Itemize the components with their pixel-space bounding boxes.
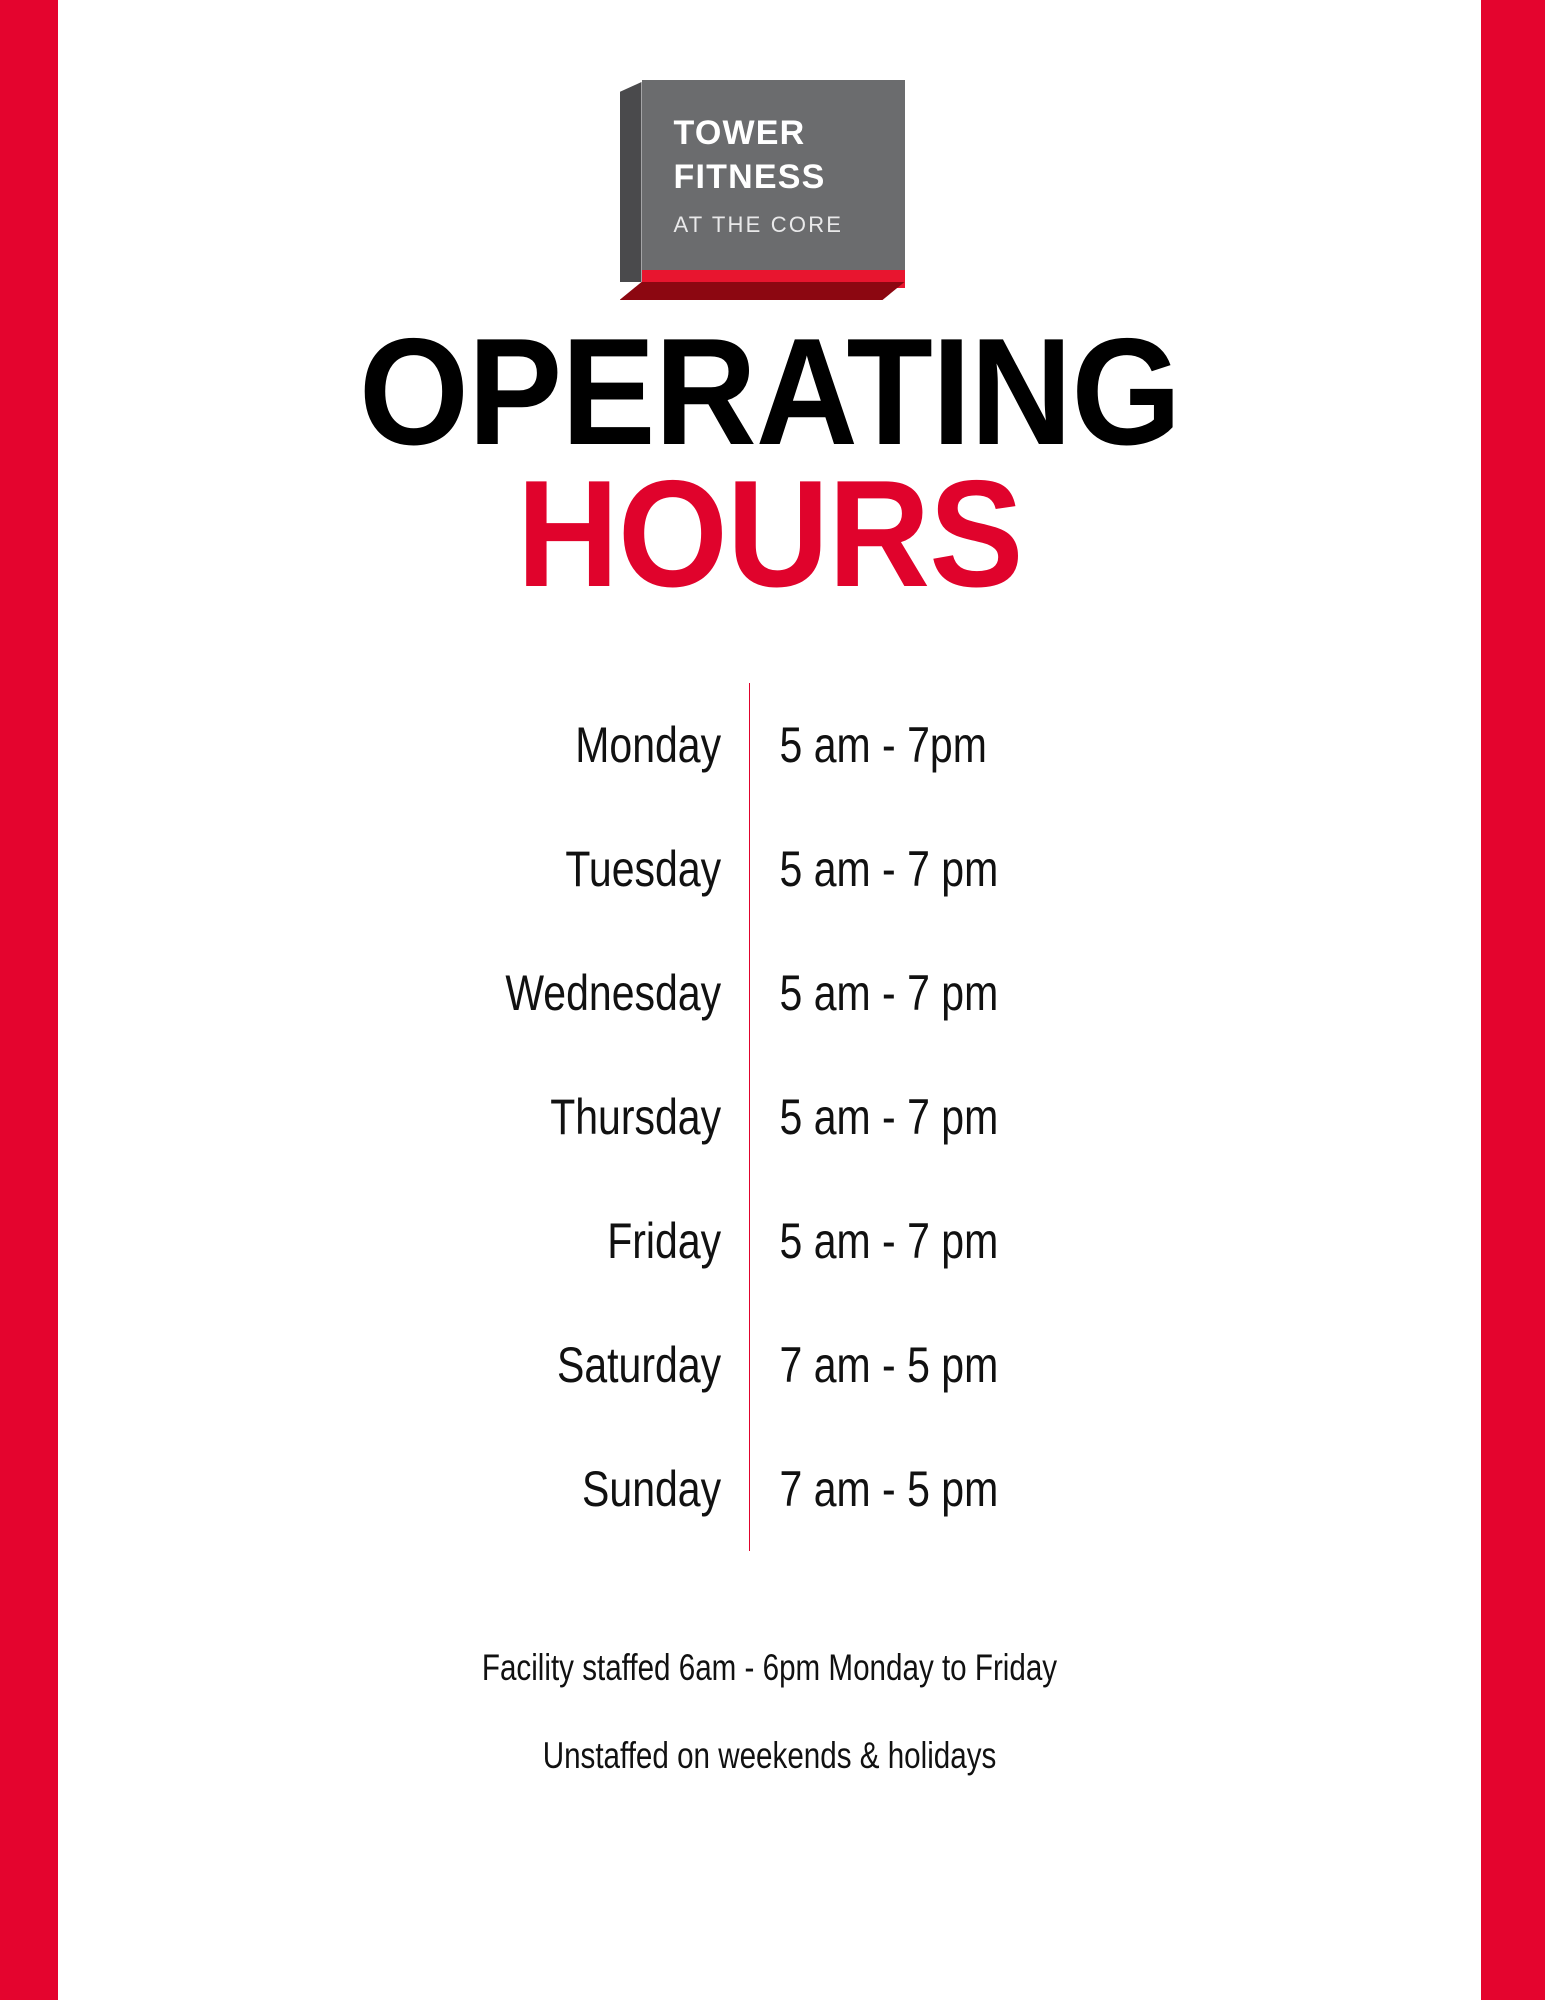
logo-tagline: AT THE CORE — [674, 212, 905, 238]
footer-notes: Facility staffed 6am - 6pm Monday to Fri… — [58, 1647, 1481, 1823]
hours-row-day: Wednesday — [511, 931, 749, 1055]
hours-row-day: Friday — [511, 1179, 749, 1303]
page-title-line2: HOURS — [359, 465, 1181, 605]
page-title-line1: OPERATING — [359, 323, 1181, 463]
hours-row-day: Monday — [511, 683, 749, 807]
logo-name-line1: TOWER — [674, 112, 905, 156]
footer-note: Facility staffed 6am - 6pm Monday to Fri… — [200, 1647, 1338, 1689]
hours-row-time: 7 am - 5 pm — [750, 1427, 1021, 1551]
footer-note: Unstaffed on weekends & holidays — [200, 1735, 1338, 1777]
hours-row-time: 5 am - 7pm — [750, 683, 1021, 807]
hours-row-time: 5 am - 7 pm — [750, 931, 1021, 1055]
logo-tower-side-edge — [620, 82, 642, 282]
page-title: OPERATING HOURS — [328, 323, 1211, 605]
hours-row-time: 5 am - 7 pm — [750, 1055, 1021, 1179]
logo-tower-face: TOWER FITNESS AT THE CORE — [642, 80, 905, 270]
hours-table: Monday5 am - 7pmTuesday5 am - 7 pmWednes… — [459, 683, 1080, 1551]
hours-row-time: 5 am - 7 pm — [750, 807, 1021, 931]
logo-name-line2: FITNESS — [674, 156, 905, 200]
tower-fitness-logo: TOWER FITNESS AT THE CORE — [620, 70, 920, 295]
operating-hours-poster: TOWER FITNESS AT THE CORE OPERATING HOUR… — [0, 0, 1545, 2000]
logo-base-shadow — [620, 282, 905, 300]
hours-row-time: 7 am - 5 pm — [750, 1303, 1021, 1427]
hours-row-day: Thursday — [511, 1055, 749, 1179]
poster-content: TOWER FITNESS AT THE CORE OPERATING HOUR… — [58, 0, 1481, 2000]
hours-row-day: Saturday — [511, 1303, 749, 1427]
hours-row-day: Tuesday — [511, 807, 749, 931]
hours-row-day: Sunday — [511, 1427, 749, 1551]
right-red-border — [1481, 0, 1545, 2000]
hours-row-time: 5 am - 7 pm — [750, 1179, 1021, 1303]
left-red-border — [0, 0, 58, 2000]
